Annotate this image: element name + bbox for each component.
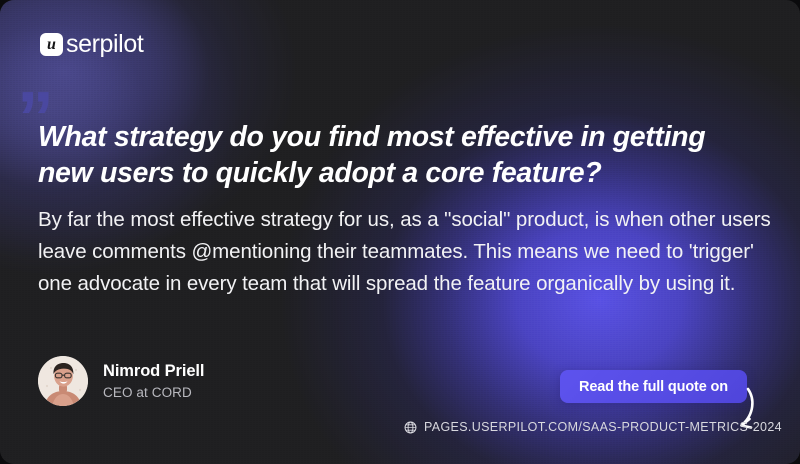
card-content: u serpilot ” What strategy do you find m… (0, 0, 800, 464)
globe-icon (404, 421, 417, 434)
userpilot-logo-mark-icon: u (40, 33, 63, 56)
quote-answer: By far the most effective strategy for u… (38, 204, 773, 299)
author-role: CEO at CORD (103, 385, 204, 400)
footer-url-text: PAGES.USERPILOT.COM/SAAS-PRODUCT-METRICS… (424, 420, 782, 434)
userpilot-logo-wordmark: serpilot (66, 30, 143, 59)
quote-question: What strategy do you find most effective… (38, 120, 738, 192)
read-full-quote-button[interactable]: Read the full quote on (560, 370, 747, 403)
avatar (38, 356, 88, 406)
author-meta: Nimrod Priell CEO at CORD (103, 362, 204, 400)
avatar-portrait-icon (38, 356, 88, 406)
author-block: Nimrod Priell CEO at CORD (38, 356, 204, 406)
author-name: Nimrod Priell (103, 362, 204, 381)
footer-url[interactable]: PAGES.USERPILOT.COM/SAAS-PRODUCT-METRICS… (404, 420, 782, 434)
userpilot-logo[interactable]: u serpilot (40, 30, 143, 59)
quote-card: u serpilot ” What strategy do you find m… (0, 0, 800, 464)
